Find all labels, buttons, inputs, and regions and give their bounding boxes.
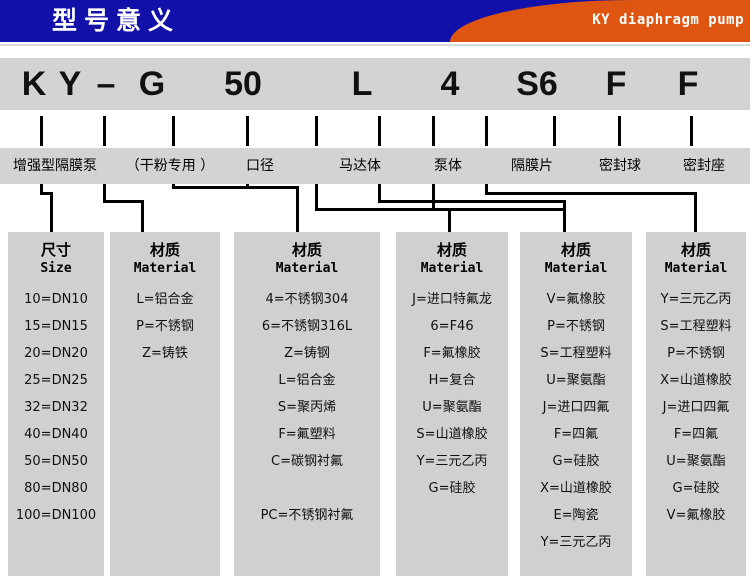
connector-stem xyxy=(40,184,43,192)
column-item: F=氟橡胶 xyxy=(396,340,508,367)
column-item: U=聚氨酯 xyxy=(520,367,632,394)
column-item: G=硅胶 xyxy=(646,475,746,502)
column-item: J=进口四氟 xyxy=(646,394,746,421)
connector-drop xyxy=(296,186,299,232)
connector-tick xyxy=(246,116,249,146)
model-code-segment: K xyxy=(14,58,54,110)
column-item: F=氟塑料 xyxy=(234,421,380,448)
column-item: Y=三元乙丙 xyxy=(520,529,632,556)
column-title: 尺寸 xyxy=(8,240,104,260)
column-item: G=硅胶 xyxy=(520,448,632,475)
connector-tick xyxy=(432,116,435,146)
column-title: 材质 xyxy=(396,240,508,260)
column-item: C=碳钢衬氟 xyxy=(234,448,380,475)
model-code-row: KY–G50L4S6FF xyxy=(0,58,750,110)
column-item: 20=DN20 xyxy=(8,340,104,367)
column-item: S=聚丙烯 xyxy=(234,394,380,421)
connector-tick xyxy=(690,116,693,146)
column-item: 6=不锈钢316L xyxy=(234,313,380,340)
column-item: J=进口四氟 xyxy=(520,394,632,421)
column-item: Y=三元乙丙 xyxy=(646,286,746,313)
column-item-spacer xyxy=(234,475,380,502)
column-item: S=工程塑料 xyxy=(646,313,746,340)
column-item: X=山道橡胶 xyxy=(646,367,746,394)
model-code-segment: 50 xyxy=(212,58,274,110)
column-title: 材质 xyxy=(646,240,746,260)
column-title-en: Material xyxy=(520,260,632,278)
column-item: X=山道橡胶 xyxy=(520,475,632,502)
column-title-en: Size xyxy=(8,260,104,278)
column-item: P=不锈钢 xyxy=(110,313,220,340)
column-item: 15=DN15 xyxy=(8,313,104,340)
column-item: G=硅胶 xyxy=(396,475,508,502)
column-item: Z=铸钢 xyxy=(234,340,380,367)
detail-column-diaphragm-material: 材质MaterialJ=进口特氟龙6=F46F=氟橡胶H=复合U=聚氨酯S=山道… xyxy=(396,232,508,576)
column-item: V=氟橡胶 xyxy=(646,502,746,529)
connector-run xyxy=(315,208,451,211)
column-item: F=四氟 xyxy=(646,421,746,448)
connector-stem xyxy=(378,184,381,200)
column-item: Y=三元乙丙 xyxy=(396,448,508,475)
column-item: H=复合 xyxy=(396,367,508,394)
product-name-label: KY diaphragm pump xyxy=(592,12,744,28)
segment-label: 泵体 xyxy=(412,148,484,184)
segment-label: 马达体 xyxy=(320,148,400,184)
column-title-en: Material xyxy=(110,260,220,278)
detail-column-size: 尺寸Size10=DN1015=DN1520=DN2025=DN2532=DN3… xyxy=(8,232,104,576)
segment-label-row: 增强型隔膜泵（干粉专用 ）口径马达体泵体隔膜片密封球密封座 xyxy=(0,148,750,184)
column-item: J=进口特氟龙 xyxy=(396,286,508,313)
connector-run xyxy=(103,200,144,203)
segment-label: 增强型隔膜泵 xyxy=(0,148,110,184)
column-item: L=铝合金 xyxy=(110,286,220,313)
page-header: 型号意义 KY diaphragm pump xyxy=(0,0,750,42)
column-item: 32=DN32 xyxy=(8,394,104,421)
segment-label: 隔膜片 xyxy=(492,148,572,184)
column-item: 10=DN10 xyxy=(8,286,104,313)
segment-label: 密封座 xyxy=(664,148,744,184)
connector-drop xyxy=(50,192,53,232)
column-item: 40=DN40 xyxy=(8,421,104,448)
connector-stem xyxy=(103,184,106,200)
page-title: 型号意义 xyxy=(52,4,180,38)
connector-tick xyxy=(553,116,556,146)
connector-tick xyxy=(315,116,318,146)
column-item: 25=DN25 xyxy=(8,367,104,394)
column-title: 材质 xyxy=(110,240,220,260)
column-item: P=不锈钢 xyxy=(520,313,632,340)
segment-label: （干粉专用 ） xyxy=(110,148,230,184)
segment-label: 口径 xyxy=(224,148,296,184)
column-title-en: Material xyxy=(646,260,746,278)
connector-tick xyxy=(40,116,43,146)
column-title-en: Material xyxy=(234,260,380,278)
column-item: F=四氟 xyxy=(520,421,632,448)
column-item: 4=不锈钢304 xyxy=(234,286,380,313)
model-code-segment: L xyxy=(340,58,384,110)
connector-run xyxy=(378,200,566,203)
detail-column-pump-body-material: 材质Material4=不锈钢3046=不锈钢316LZ=铸钢L=铝合金S=聚丙… xyxy=(234,232,380,576)
model-code-segment: F xyxy=(596,58,636,110)
connector-tick xyxy=(172,116,175,146)
column-item: 50=DN50 xyxy=(8,448,104,475)
connector-tick xyxy=(485,116,488,146)
column-title-en: Material xyxy=(396,260,508,278)
segment-label: 密封球 xyxy=(580,148,660,184)
model-code-segment: – xyxy=(86,58,126,110)
model-code-segment: G xyxy=(128,58,176,110)
model-code-segment: S6 xyxy=(508,58,566,110)
column-item: 80=DN80 xyxy=(8,475,104,502)
connector-tick xyxy=(618,116,621,146)
connector-stem xyxy=(485,184,488,192)
header-divider xyxy=(0,44,750,46)
column-item: U=聚氨酯 xyxy=(396,394,508,421)
column-item: P=不锈钢 xyxy=(646,340,746,367)
connector-stem xyxy=(315,184,318,208)
connector-run xyxy=(246,186,299,189)
connector-drop xyxy=(563,208,566,232)
connector-drop xyxy=(694,192,697,232)
column-item: L=铝合金 xyxy=(234,367,380,394)
column-item: S=山道橡胶 xyxy=(396,421,508,448)
model-code-segment: Y xyxy=(50,58,90,110)
connector-tick xyxy=(378,116,381,146)
detail-column-seal-seat-material: 材质MaterialY=三元乙丙S=工程塑料P=不锈钢X=山道橡胶J=进口四氟F… xyxy=(646,232,746,576)
column-item: V=氟橡胶 xyxy=(520,286,632,313)
column-item: PC=不锈钢衬氟 xyxy=(234,502,380,529)
model-code-segment: 4 xyxy=(428,58,472,110)
column-item: S=工程塑料 xyxy=(520,340,632,367)
detail-column-motor-body-material: 材质MaterialL=铝合金P=不锈钢Z=铸铁 xyxy=(110,232,220,576)
model-code-segment: F xyxy=(668,58,708,110)
detail-column-seal-ball-material: 材质MaterialV=氟橡胶P=不锈钢S=工程塑料U=聚氨酯J=进口四氟F=四… xyxy=(520,232,632,576)
column-item: E=陶瓷 xyxy=(520,502,632,529)
connector-tick xyxy=(103,116,106,146)
connector-drop xyxy=(141,200,144,232)
column-item: 6=F46 xyxy=(396,313,508,340)
column-item: Z=铸铁 xyxy=(110,340,220,367)
connector-run xyxy=(485,192,697,195)
column-title: 材质 xyxy=(520,240,632,260)
column-item: U=聚氨酯 xyxy=(646,448,746,475)
connector-stem xyxy=(432,184,435,208)
connector-run xyxy=(432,208,566,211)
column-item: 100=DN100 xyxy=(8,502,104,529)
connector-drop xyxy=(448,208,451,232)
column-title: 材质 xyxy=(234,240,380,260)
